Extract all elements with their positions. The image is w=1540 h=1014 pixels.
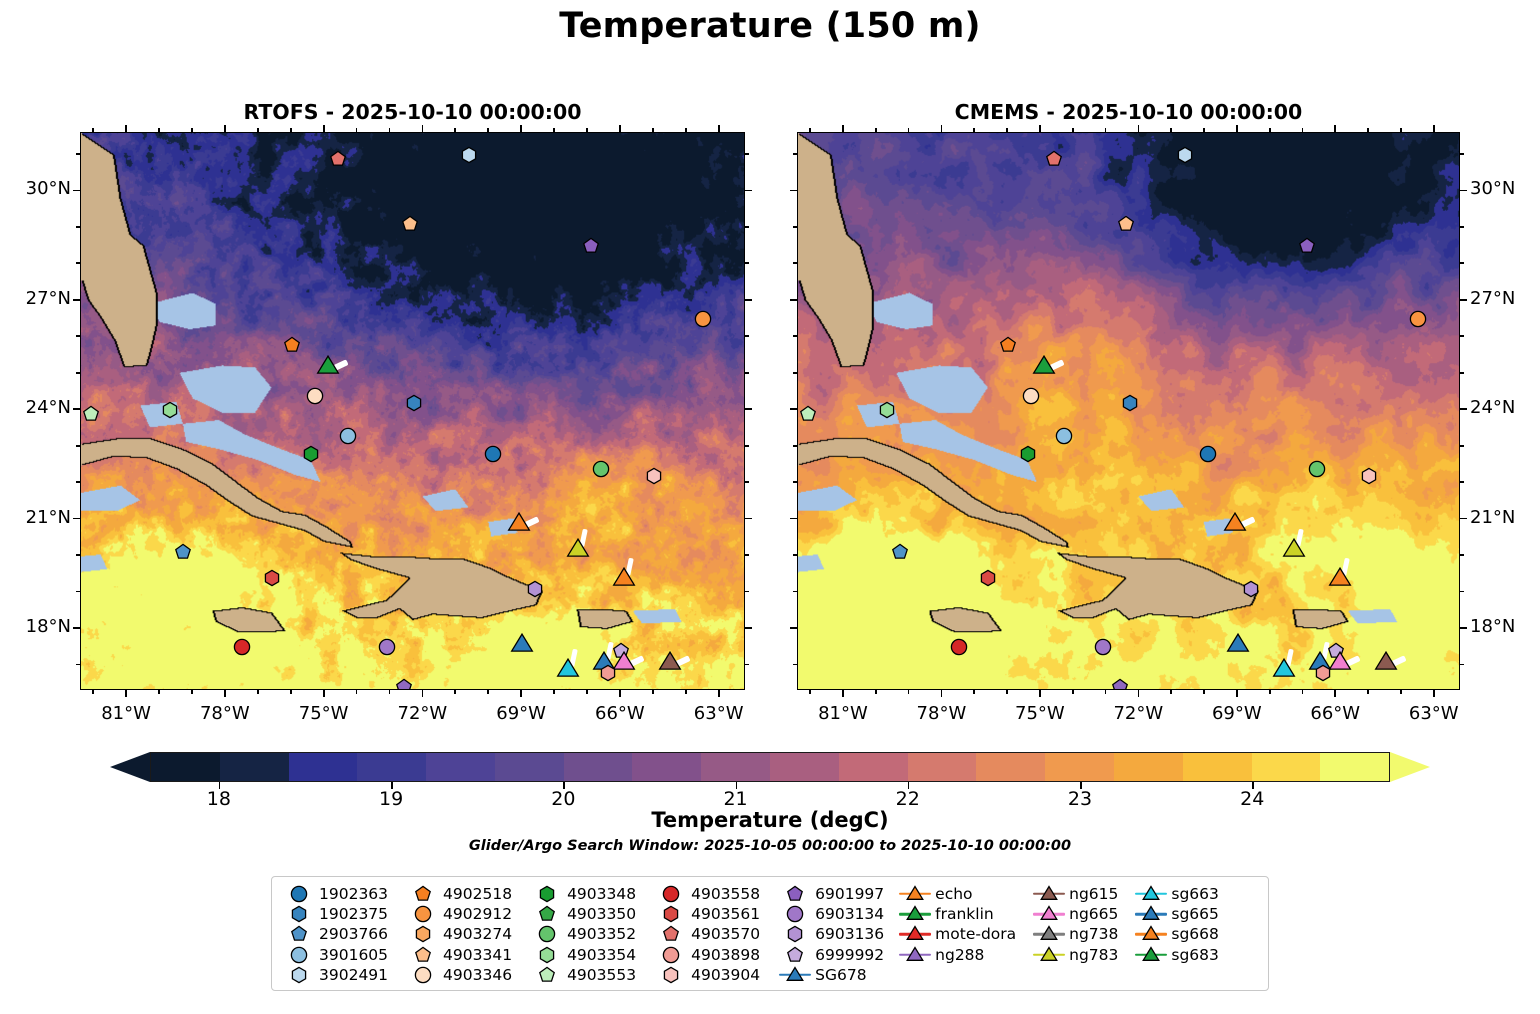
colorbar-segment: [976, 753, 1045, 781]
legend-marker-glyph: [291, 946, 308, 963]
lon-tick: [652, 690, 654, 694]
legend-item[interactable]: 4903561: [654, 904, 760, 923]
legend-item-label: sg668: [1168, 925, 1219, 943]
map-marker-4903570[interactable]: [1046, 150, 1063, 167]
lat-tick: [793, 226, 797, 228]
map-marker-4903350[interactable]: [1033, 355, 1055, 377]
legend-item[interactable]: 1902375: [282, 904, 388, 923]
legend-item[interactable]: 3901605: [282, 945, 388, 964]
lon-tick-label: 81°W: [798, 703, 888, 724]
legend-column: 49033484903350490335249033544903553: [530, 884, 636, 984]
legend-item-label: 4903274: [440, 925, 512, 943]
lon-tick: [586, 128, 588, 132]
map-marker-4903348[interactable]: [1019, 445, 1036, 462]
lon-tick: [1400, 128, 1402, 132]
colorbar-tick-label: 20: [523, 788, 603, 810]
lon-tick: [1170, 128, 1172, 132]
legend-item-label: 4903348: [564, 885, 636, 903]
legend-marker-glyph: [787, 926, 804, 943]
lon-tick: [553, 128, 555, 132]
legend-marker-glyph: [539, 946, 556, 963]
map-marker-4903352[interactable]: [1308, 460, 1325, 477]
lon-tick: [92, 690, 94, 694]
lon-tick-label: 78°W: [896, 703, 986, 724]
map-marker-4902518[interactable]: [1000, 336, 1017, 353]
lon-tick: [973, 128, 975, 132]
map-marker-4903558[interactable]: [950, 639, 967, 656]
legend-marker-pentagon-icon: [654, 925, 688, 944]
legend-marker-glyph: [539, 905, 556, 922]
lon-tick-label: 69°W: [476, 703, 566, 724]
map-marker-1902363[interactable]: [484, 445, 501, 462]
map-marker-3902491[interactable]: [1177, 146, 1194, 163]
legend-item[interactable]: mote-dora: [898, 925, 1016, 944]
lat-tick: [745, 299, 752, 301]
legend-marker-pentagon-icon: [406, 945, 440, 964]
legend-marker-hexagon-icon: [406, 925, 440, 944]
map-marker-4903348[interactable]: [303, 445, 320, 462]
legend-item[interactable]: 3902491: [282, 965, 388, 984]
legend-item[interactable]: sg665: [1134, 904, 1219, 923]
legend-item[interactable]: 4903352: [530, 925, 636, 944]
lat-tick: [745, 591, 749, 593]
lon-tick: [875, 128, 877, 132]
legend-item-label: ng615: [1066, 885, 1118, 903]
map-marker-sg665[interactable]: [1227, 633, 1249, 655]
legend-item-label: ng665: [1066, 905, 1118, 923]
legend-item-label: 3902491: [316, 966, 388, 984]
legend-marker-circle-icon: [530, 925, 564, 944]
legend-item-label: sg663: [1168, 885, 1219, 903]
map-marker-2903766[interactable]: [891, 544, 908, 561]
map-marker-ng783[interactable]: [567, 538, 589, 560]
map-marker-ng615[interactable]: [1375, 651, 1397, 673]
colorbar-tick-label: 23: [1040, 788, 1120, 810]
lon-tick: [487, 690, 489, 694]
lat-tick: [76, 262, 80, 264]
lat-tick: [1460, 591, 1464, 593]
lon-tick: [1138, 690, 1140, 697]
lon-tick: [356, 690, 358, 694]
legend-item-label: 4903352: [564, 925, 636, 943]
lon-tick: [1433, 690, 1435, 697]
legend-column: echofranklinmote-dorang288: [898, 884, 1016, 984]
legend-marker-triangle-icon: [898, 884, 932, 903]
map-marker-4903350[interactable]: [317, 355, 339, 377]
legend-marker-glyph: [787, 905, 804, 922]
map-marker-4903346[interactable]: [306, 387, 323, 404]
lon-tick-label: 66°W: [575, 703, 665, 724]
map-marker-6903136[interactable]: [527, 580, 544, 597]
lon-tick: [1269, 690, 1271, 694]
legend-marker-glyph: [415, 885, 432, 902]
legend-marker-pentagon-icon: [406, 884, 440, 903]
panel-title-cmems: CMEMS - 2025-10-10 00:00:00: [797, 100, 1460, 124]
legend-item-label: 6903136: [812, 925, 884, 943]
lon-tick: [1302, 128, 1304, 132]
lat-tick: [793, 335, 797, 337]
map-panel-rtofs[interactable]: [80, 132, 745, 690]
map-marker-4903341[interactable]: [402, 216, 419, 233]
lat-tick-label: 21°N: [0, 507, 71, 528]
lon-tick: [224, 690, 226, 697]
lat-tick: [790, 408, 797, 410]
lon-tick-label: 75°W: [279, 703, 369, 724]
legend-marker-hexagon-icon: [530, 884, 564, 903]
lon-tick: [685, 690, 687, 694]
legend-item[interactable]: ng738: [1032, 925, 1118, 944]
legend-item-label: echo: [932, 885, 972, 903]
lat-tick: [793, 664, 797, 666]
legend-item[interactable]: 1902363: [282, 884, 388, 903]
map-marker-4903341[interactable]: [1118, 216, 1135, 233]
lat-tick: [76, 445, 80, 447]
legend-item[interactable]: 4902912: [406, 904, 512, 923]
colorbar-segment: [1320, 753, 1389, 781]
lon-tick: [520, 690, 522, 697]
map-marker-3902491[interactable]: [461, 146, 478, 163]
map-marker-4903352[interactable]: [593, 460, 610, 477]
colorbar-tick-label: 21: [696, 788, 776, 810]
map-marker-4903904[interactable]: [1361, 467, 1378, 484]
legend-marker-triangle-icon: [1032, 884, 1066, 903]
legend-item[interactable]: sg663: [1134, 884, 1219, 903]
legend-item-label: sg683: [1168, 946, 1219, 964]
map-marker-echo[interactable]: [1224, 512, 1246, 534]
panel-title-rtofs: RTOFS - 2025-10-10 00:00:00: [80, 100, 745, 124]
map-marker-sg668[interactable]: [1329, 567, 1351, 589]
legend-marker-glyph: [539, 966, 556, 983]
legend-item-label: 4902518: [440, 885, 512, 903]
map-marker-4903558[interactable]: [234, 639, 251, 656]
map-marker-sg668[interactable]: [613, 567, 635, 589]
legend-item[interactable]: sg683: [1134, 945, 1219, 964]
legend-item[interactable]: ng665: [1032, 904, 1118, 923]
legend-marker-triangle-icon: [898, 904, 932, 923]
legend-item[interactable]: 6999992: [778, 945, 884, 964]
lat-tick: [793, 445, 797, 447]
lat-tick: [745, 664, 749, 666]
legend-item[interactable]: 4903904: [654, 965, 760, 984]
lat-tick: [76, 554, 80, 556]
legend-marker-pentagon-icon: [530, 965, 564, 984]
lat-tick: [745, 153, 749, 155]
legend-marker-triangle-icon: [778, 965, 812, 984]
lon-tick: [1236, 690, 1238, 697]
legend-marker-glyph: [1143, 905, 1160, 922]
map-marker-6901997[interactable]: [1298, 238, 1315, 255]
legend-item[interactable]: 4903341: [406, 945, 512, 964]
map-marker-4903354[interactable]: [878, 402, 895, 419]
map-panel-cmems[interactable]: [797, 132, 1460, 690]
lon-tick: [323, 690, 325, 697]
legend-item[interactable]: 4903558: [654, 884, 760, 903]
map-marker-1902375[interactable]: [1121, 394, 1138, 411]
legend-marker-glyph: [787, 946, 804, 963]
legend-item-label: 4903561: [688, 905, 760, 923]
legend-item-label: ng783: [1066, 946, 1118, 964]
lon-tick: [1367, 690, 1369, 694]
legend-item[interactable]: 4903274: [406, 925, 512, 944]
legend-marker-pentagon-icon: [778, 884, 812, 903]
lon-tick: [619, 690, 621, 697]
legend-item[interactable]: franklin: [898, 904, 1016, 923]
colorbar: [110, 752, 1430, 782]
map-marker-ng665[interactable]: [613, 651, 635, 673]
map-marker-1902375[interactable]: [405, 394, 422, 411]
lon-tick: [158, 128, 160, 132]
legend-item[interactable]: echo: [898, 884, 1016, 903]
lon-tick: [842, 125, 844, 132]
legend-column: ng615ng665ng738ng783: [1032, 884, 1118, 984]
legend-marker-triangle-icon: [898, 925, 932, 944]
legend-marker-glyph: [1041, 905, 1058, 922]
legend-item[interactable]: 4903348: [530, 884, 636, 903]
map-marker-4903561[interactable]: [980, 569, 997, 586]
lat-tick: [1460, 408, 1467, 410]
lat-tick: [73, 408, 80, 410]
legend-marker-pentagon-icon: [778, 945, 812, 964]
lat-tick: [1460, 226, 1464, 228]
map-marker-4903553[interactable]: [82, 405, 99, 422]
lon-tick-label: 72°W: [377, 703, 467, 724]
lon-tick: [1334, 125, 1336, 132]
lon-tick: [454, 690, 456, 694]
colorbar-segment: [357, 753, 426, 781]
lon-tick: [389, 128, 391, 132]
legend-marker-pentagon-icon: [282, 925, 316, 944]
lon-tick-label: 63°W: [674, 703, 764, 724]
lat-tick: [1460, 664, 1464, 666]
legend-item[interactable]: 4903354: [530, 945, 636, 964]
legend-marker-circle-icon: [654, 884, 688, 903]
colorbar-segment: [564, 753, 633, 781]
lat-tick: [1460, 481, 1464, 483]
legend-marker-circle-icon: [406, 904, 440, 923]
lon-tick-label: 81°W: [81, 703, 171, 724]
colorbar-segments: [150, 752, 1390, 782]
legend-item[interactable]: 4902518: [406, 884, 512, 903]
legend-marker-triangle-icon: [1134, 925, 1168, 944]
map-marker-2903766[interactable]: [175, 544, 192, 561]
map-marker-6903136[interactable]: [1242, 580, 1259, 597]
legend-item[interactable]: 6901997: [778, 884, 884, 903]
legend-marker-hexagon-icon: [530, 945, 564, 964]
lon-tick: [842, 690, 844, 697]
lat-tick-label: 21°N: [1470, 507, 1540, 528]
lat-tick: [790, 299, 797, 301]
lon-tick: [191, 128, 193, 132]
map-marker-4903561[interactable]: [263, 569, 280, 586]
map-marker-4903570[interactable]: [329, 150, 346, 167]
map-marker-4903898[interactable]: [599, 664, 616, 681]
lon-tick: [1269, 128, 1271, 132]
lat-tick-label: 24°N: [1470, 397, 1540, 418]
map-marker-6901997[interactable]: [583, 238, 600, 255]
legend-item-label: 1902375: [316, 905, 388, 923]
legend-item-label: sg665: [1168, 905, 1219, 923]
legend-item[interactable]: 6903136: [778, 925, 884, 944]
lon-tick: [908, 690, 910, 694]
lon-tick: [323, 125, 325, 132]
legend-item-label: 6901997: [812, 885, 884, 903]
lon-tick: [652, 128, 654, 132]
map-marker-4903553[interactable]: [799, 405, 816, 422]
legend-marker-glyph: [291, 885, 308, 902]
legend-marker-glyph: [1143, 885, 1160, 902]
lon-tick: [809, 690, 811, 694]
colorbar-segment: [770, 753, 839, 781]
lat-tick-label: 30°N: [1470, 178, 1540, 199]
map-marker-4902518[interactable]: [283, 336, 300, 353]
legend-item[interactable]: 6903134: [778, 904, 884, 923]
map-marker-sg665[interactable]: [511, 633, 533, 655]
legend-item[interactable]: 2903766: [282, 925, 388, 944]
legend-marker-triangle-icon: [1134, 884, 1168, 903]
lat-tick: [790, 518, 797, 520]
legend-item[interactable]: sg668: [1134, 925, 1219, 944]
lon-tick: [487, 128, 489, 132]
legend-item-label: ng288: [932, 946, 984, 964]
legend-column: 6901997690313469031366999992SG678: [778, 884, 884, 984]
lat-tick: [76, 591, 80, 593]
map-marker-ng288[interactable]: [1111, 679, 1128, 690]
lon-tick: [1302, 690, 1304, 694]
legend-item-label: 4903350: [564, 905, 636, 923]
legend-marker-glyph: [787, 966, 804, 983]
legend-marker-glyph: [415, 966, 432, 983]
lon-tick: [809, 128, 811, 132]
legend-marker-glyph: [907, 905, 924, 922]
legend-column: 19023631902375290376639016053902491: [282, 884, 388, 984]
legend-item-label: 6999992: [812, 946, 884, 964]
lon-tick: [422, 690, 424, 697]
map-marker-ng288[interactable]: [395, 679, 412, 690]
legend-item-label: 4903354: [564, 946, 636, 964]
legend-item-label: 4903341: [440, 946, 512, 964]
lat-tick: [745, 518, 752, 520]
legend-item[interactable]: 4903553: [530, 965, 636, 984]
map-marker-4903898[interactable]: [1315, 664, 1332, 681]
lat-tick: [745, 554, 749, 556]
lat-tick: [73, 518, 80, 520]
map-marker-ng665[interactable]: [1329, 651, 1351, 673]
lat-tick: [793, 153, 797, 155]
legend-item[interactable]: ng615: [1032, 884, 1118, 903]
lon-tick: [191, 690, 193, 694]
legend-item-label: 2903766: [316, 925, 388, 943]
lat-tick: [76, 153, 80, 155]
lon-tick: [422, 125, 424, 132]
lon-tick-label: 69°W: [1192, 703, 1282, 724]
lat-tick: [793, 591, 797, 593]
lon-tick: [1006, 690, 1008, 694]
lon-tick: [92, 128, 94, 132]
lat-tick: [745, 190, 752, 192]
lat-tick: [790, 627, 797, 629]
legend-item-label: 3901605: [316, 946, 388, 964]
map-marker-6903134[interactable]: [1095, 639, 1112, 656]
lat-tick: [1460, 518, 1467, 520]
legend-marker-glyph: [415, 926, 432, 943]
search-window-note: Glider/Argo Search Window: 2025-10-05 00…: [0, 838, 1540, 854]
lat-tick: [745, 335, 749, 337]
map-marker-3901605[interactable]: [1055, 427, 1072, 444]
legend-item[interactable]: SG678: [778, 965, 884, 984]
lon-tick: [520, 125, 522, 132]
lat-tick: [745, 262, 749, 264]
lat-tick: [745, 445, 749, 447]
legend-item[interactable]: 4903898: [654, 945, 760, 964]
map-marker-ng615[interactable]: [659, 651, 681, 673]
lon-tick: [125, 690, 127, 697]
legend-marker-circle-icon: [282, 945, 316, 964]
map-marker-4902912[interactable]: [695, 311, 712, 328]
lon-tick-label: 66°W: [1290, 703, 1380, 724]
map-marker-4903354[interactable]: [161, 402, 178, 419]
legend-marker-glyph: [1143, 946, 1160, 963]
legend-item-label: 1902363: [316, 885, 388, 903]
legend-marker-hexagon-icon: [282, 965, 316, 984]
legend-item[interactable]: ng288: [898, 945, 1016, 964]
lat-tick-label: 27°N: [1470, 288, 1540, 309]
colorbar-axis-label: Temperature (degC): [0, 808, 1540, 832]
lon-tick: [973, 690, 975, 694]
lat-tick: [1460, 627, 1467, 629]
colorbar-tick-label: 22: [868, 788, 948, 810]
map-marker-3901605[interactable]: [339, 427, 356, 444]
map-marker-sg663[interactable]: [557, 658, 579, 680]
legend-marker-hexagon-icon: [282, 904, 316, 923]
map-marker-1902363[interactable]: [1200, 445, 1217, 462]
lon-tick: [1203, 128, 1205, 132]
lon-tick: [1400, 690, 1402, 694]
map-marker-4903904[interactable]: [645, 467, 662, 484]
legend-marker-glyph: [663, 905, 680, 922]
legend-item[interactable]: 4903350: [530, 904, 636, 923]
map-marker-4902912[interactable]: [1410, 311, 1427, 328]
map-marker-4903346[interactable]: [1023, 387, 1040, 404]
map-marker-sg663[interactable]: [1273, 658, 1295, 680]
legend-item[interactable]: 4903346: [406, 965, 512, 984]
legend-item[interactable]: ng783: [1032, 945, 1118, 964]
platform-legend: 1902363190237529037663901605390249149025…: [271, 876, 1269, 991]
lon-tick: [1105, 128, 1107, 132]
map-marker-ng783[interactable]: [1283, 538, 1305, 560]
lon-tick: [875, 690, 877, 694]
legend-item-label: 4903558: [688, 885, 760, 903]
colorbar-segment: [908, 753, 977, 781]
legend-column: sg663sg665sg668sg683: [1134, 884, 1219, 984]
colorbar-segment: [289, 753, 358, 781]
lat-tick: [73, 190, 80, 192]
lon-tick: [224, 125, 226, 132]
lon-tick: [257, 128, 259, 132]
legend-marker-glyph: [539, 926, 556, 943]
map-marker-echo[interactable]: [508, 512, 530, 534]
lon-tick: [718, 690, 720, 697]
lon-tick: [941, 125, 943, 132]
legend-column: 49035584903561490357049038984903904: [654, 884, 760, 984]
lat-tick: [76, 372, 80, 374]
legend-item[interactable]: 4903570: [654, 925, 760, 944]
map-marker-6903134[interactable]: [379, 639, 396, 656]
colorbar-segment: [1252, 753, 1321, 781]
lon-tick: [619, 125, 621, 132]
colorbar-segment: [839, 753, 908, 781]
colorbar-tick-label: 19: [351, 788, 431, 810]
legend-marker-glyph: [539, 885, 556, 902]
